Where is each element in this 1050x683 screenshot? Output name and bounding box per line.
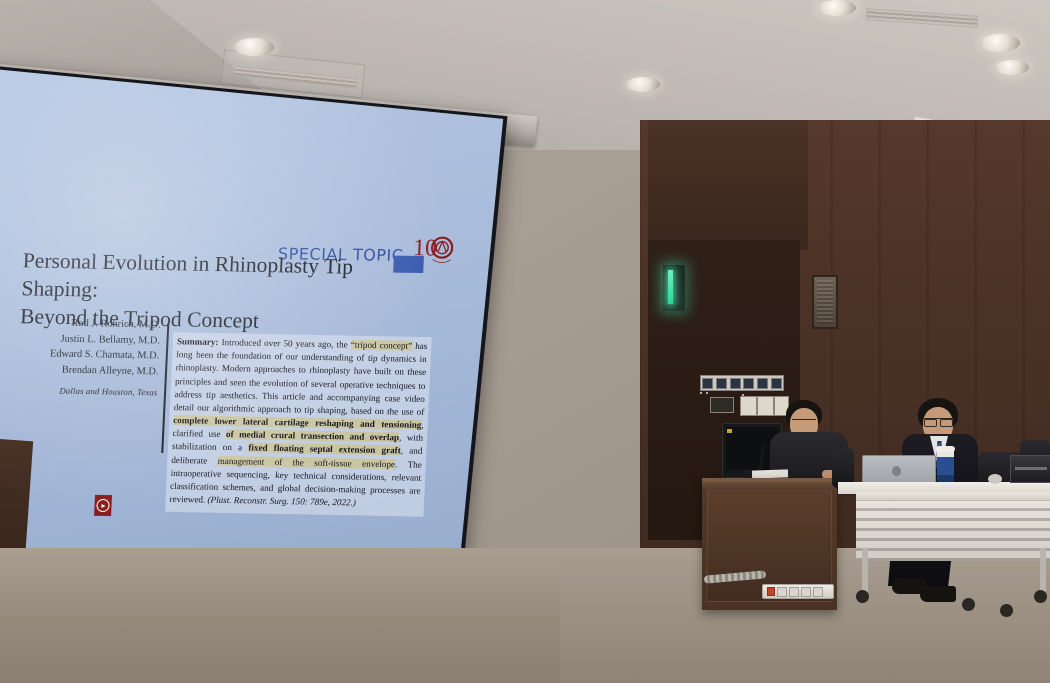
summary-highlight-5: management of the soft-tissue envelope xyxy=(218,455,396,468)
table-modesty-panel xyxy=(856,500,1050,561)
computer-mouse[interactable] xyxy=(988,474,1002,484)
cup-lid xyxy=(936,446,955,452)
wall-plate-1[interactable] xyxy=(740,396,757,416)
author-4: Brendan Alleyne, M.D. xyxy=(34,362,159,380)
table-leg-2 xyxy=(1040,548,1046,594)
glasses-lens-left xyxy=(924,419,937,427)
table-caster-1 xyxy=(856,590,869,603)
apple-logo-icon xyxy=(892,466,901,476)
play-video-icon[interactable] xyxy=(94,495,112,516)
play-icon-triangle xyxy=(101,503,105,507)
projected-slide: SPECIAL TOPIC 10 Personal Evolution in R… xyxy=(0,67,503,586)
downlight-1 xyxy=(234,38,274,56)
power-socket[interactable] xyxy=(801,587,811,597)
slide-summary-block: Summary: Introduced over 50 years ago, t… xyxy=(165,332,432,517)
downlight-6 xyxy=(980,34,1020,52)
power-socket[interactable] xyxy=(777,587,787,597)
summary-journal-reference: (Plast. Reconstr. Surg. 150: 789e, 2022.… xyxy=(207,495,356,508)
summary-highlight-2: complete lower lateral cartilage reshapi… xyxy=(173,415,422,430)
slide-affiliation: Dallas and Houston, Texas xyxy=(33,384,158,399)
emergency-exit-light xyxy=(662,264,686,312)
control-switch[interactable] xyxy=(716,378,727,389)
control-switch[interactable] xyxy=(771,378,782,389)
second-laptop-slot xyxy=(1015,467,1047,470)
summary-lead: Summary: xyxy=(177,336,219,347)
chair-caster-1 xyxy=(962,598,975,611)
control-switch[interactable] xyxy=(743,378,754,389)
presenter-glasses-icon xyxy=(792,419,816,425)
power-socket[interactable] xyxy=(789,587,799,597)
projection-screen: SPECIAL TOPIC 10 Personal Evolution in R… xyxy=(0,64,507,598)
glasses-lens-right xyxy=(940,419,953,427)
seated-man-glasses-icon xyxy=(924,418,952,425)
av-control-panel[interactable] xyxy=(700,375,784,391)
wood-wall-upper xyxy=(648,120,808,250)
author-3: Edward S. Chamata, M.D. xyxy=(35,346,160,364)
downlight-5 xyxy=(818,0,856,16)
blue-drink-cup xyxy=(937,449,954,483)
power-strip-switch[interactable] xyxy=(767,587,775,596)
slide-authors: Rod J. Rohrich, M.D. Justin L. Bellamy, … xyxy=(33,315,161,399)
summary-text-1: Introduced over 50 years ago, the xyxy=(218,337,351,350)
table-caster-2 xyxy=(1034,590,1047,603)
control-switch[interactable] xyxy=(757,378,768,389)
floor-power-strip[interactable] xyxy=(762,584,834,599)
downlight-3 xyxy=(626,77,660,92)
wall-outlet-plate[interactable] xyxy=(710,397,734,413)
slide-title-line-1: Personal Evolution in Rhinoplasty Tip Sh… xyxy=(21,247,434,311)
wall-document-1 xyxy=(700,392,702,394)
wall-notice-a xyxy=(706,392,708,394)
shoe-right xyxy=(920,586,956,602)
second-laptop[interactable] xyxy=(1010,455,1050,483)
presentation-room-photo: SPECIAL TOPIC 10 Personal Evolution in R… xyxy=(0,0,1050,683)
summary-text-2: has long been the foundation of our unde… xyxy=(174,341,428,417)
chair-caster-2 xyxy=(1000,604,1013,617)
control-switch[interactable] xyxy=(730,378,741,389)
control-switch[interactable] xyxy=(702,378,713,389)
summary-highlight-3: of medial crural transection and overlap xyxy=(226,429,400,442)
monitor-led xyxy=(727,429,732,433)
wall-plaque xyxy=(812,275,838,329)
downlight-7 xyxy=(995,60,1029,75)
plaque-etching xyxy=(817,280,833,324)
screen-surface: SPECIAL TOPIC 10 Personal Evolution in R… xyxy=(0,67,503,592)
summary-highlight-1: “tripod concept” xyxy=(351,340,413,351)
table-leg-1 xyxy=(862,548,868,594)
play-icon-ring xyxy=(96,499,110,512)
summary-highlight-4: fixed floating septal extension graft xyxy=(248,443,401,456)
power-socket[interactable] xyxy=(813,587,823,597)
exit-light-bar xyxy=(668,270,673,304)
posted-notice-2 xyxy=(742,394,744,396)
